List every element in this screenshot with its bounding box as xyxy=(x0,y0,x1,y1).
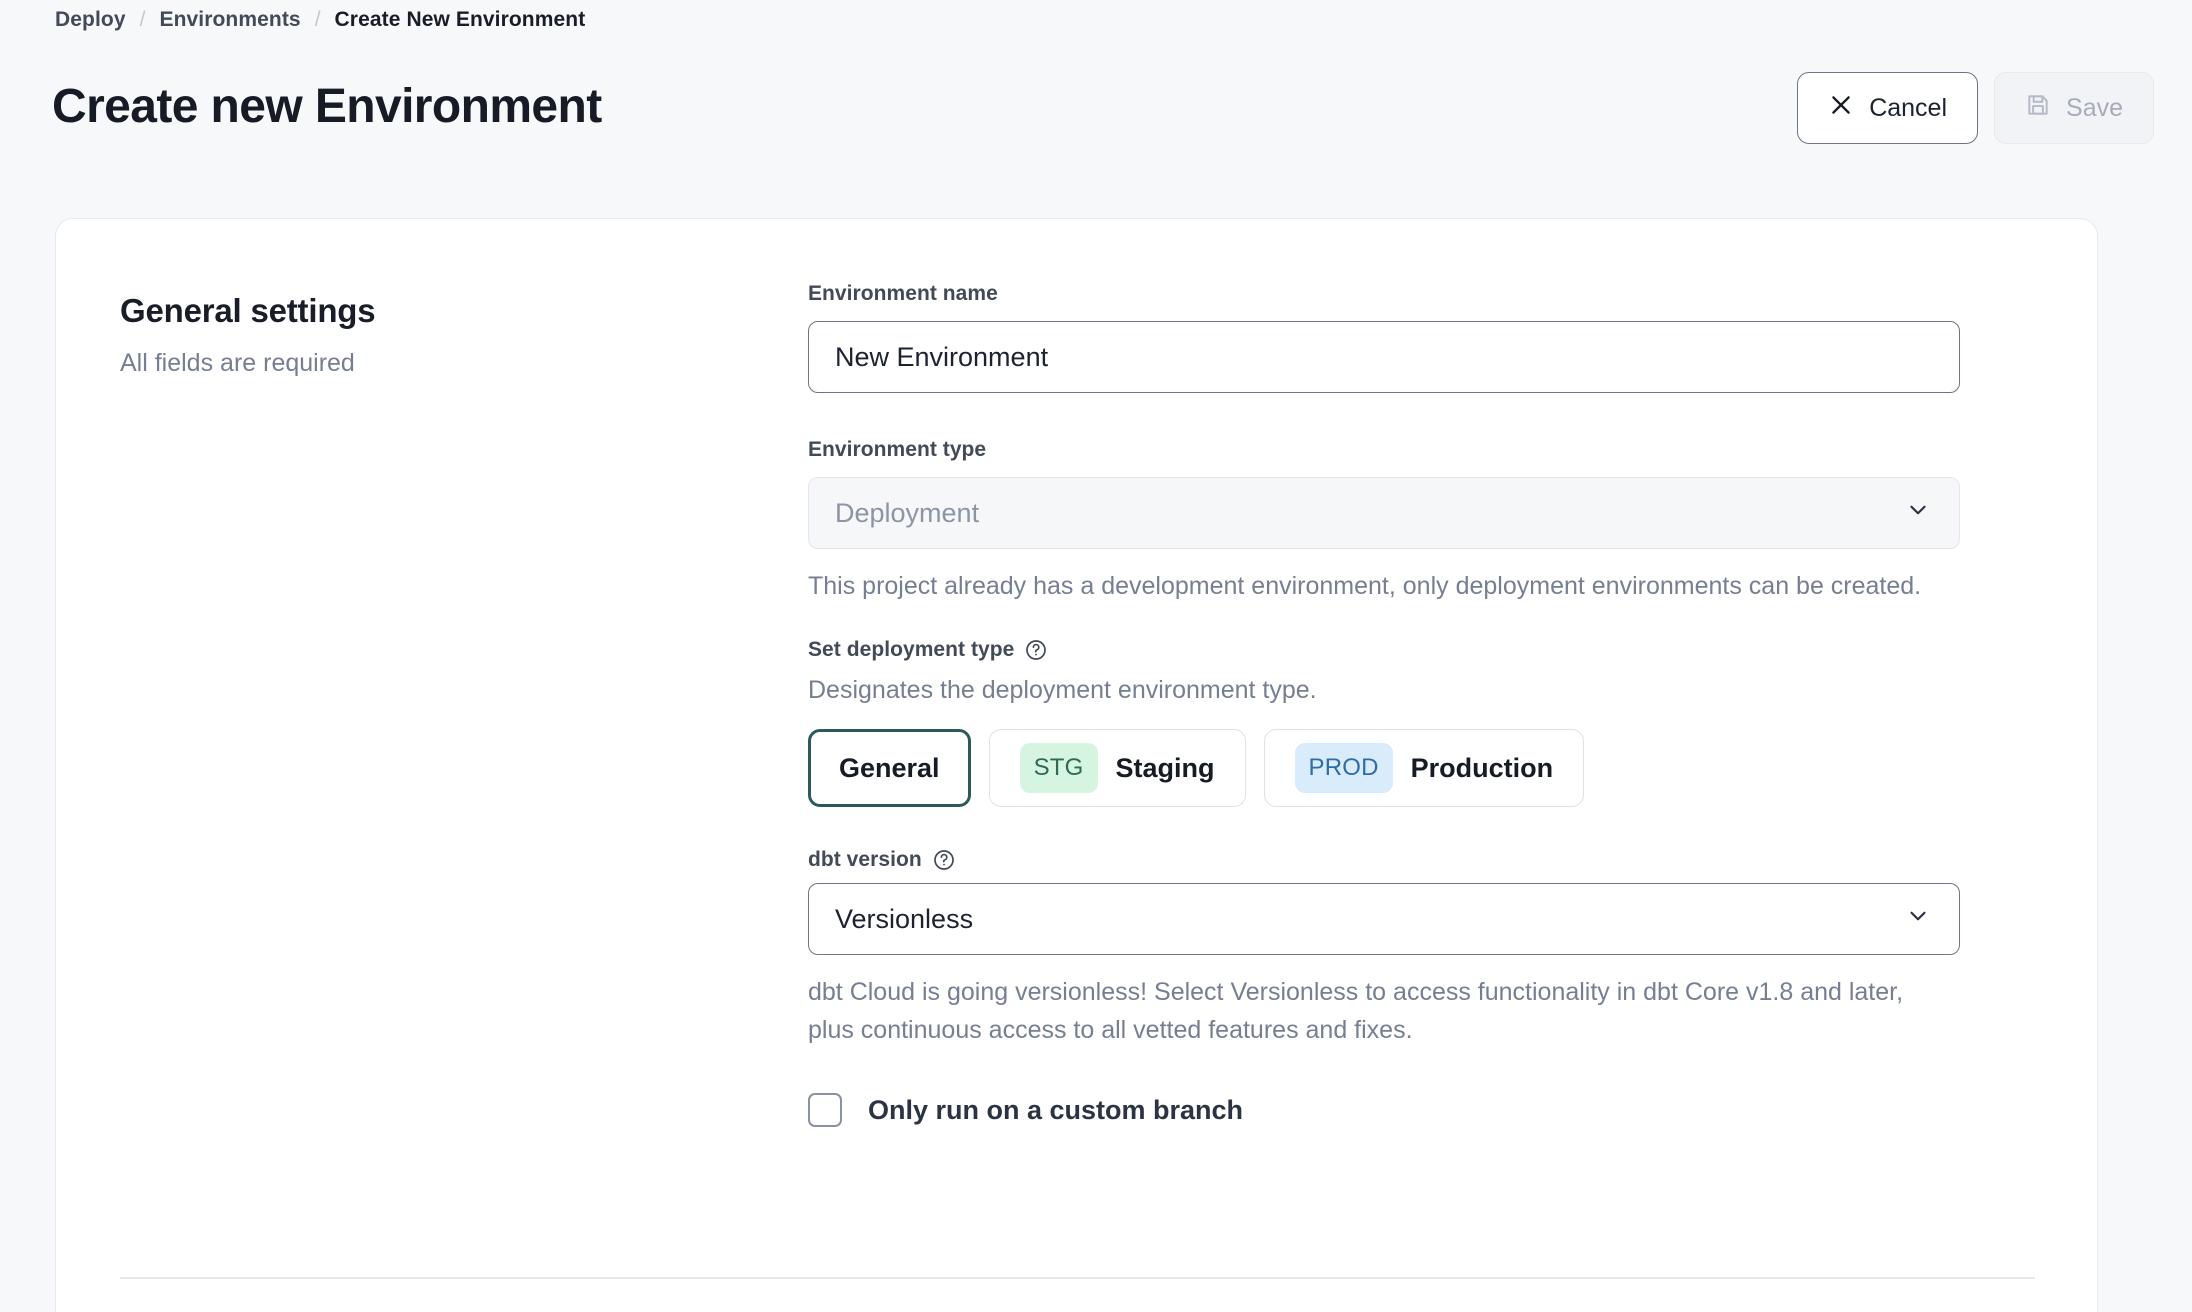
deployment-type-options: General STG Staging PROD Production xyxy=(808,729,1960,807)
breadcrumb-separator: / xyxy=(140,6,146,34)
breadcrumb-item-create-new-environment: Create New Environment xyxy=(335,6,586,34)
dbt-version-label-row: dbt version xyxy=(808,847,1960,873)
page-title: Create new Environment xyxy=(52,78,602,136)
form-column: Environment name New Environment Environ… xyxy=(808,281,1960,1127)
header-actions: Cancel Save xyxy=(1797,72,2154,144)
floppy-disk-icon xyxy=(2025,92,2051,125)
dbt-version-field: dbt version Versionless xyxy=(808,847,1960,1049)
section-header: General settings All fields are required xyxy=(120,291,680,379)
card-divider xyxy=(120,1277,2035,1279)
chevron-down-icon xyxy=(1905,903,1931,936)
general-settings-card: General settings All fields are required… xyxy=(55,218,2098,1312)
environment-type-select[interactable]: Deployment xyxy=(808,477,1960,549)
save-button-label: Save xyxy=(2066,96,2123,121)
create-environment-page: Deploy / Environments / Create New Envir… xyxy=(0,0,2192,1312)
breadcrumb: Deploy / Environments / Create New Envir… xyxy=(55,6,585,34)
custom-branch-checkbox[interactable] xyxy=(808,1093,842,1127)
dbt-version-label: dbt version xyxy=(808,847,922,873)
dbt-version-value: Versionless xyxy=(835,906,1933,933)
environment-name-input[interactable]: New Environment xyxy=(808,321,1960,393)
custom-branch-row: Only run on a custom branch xyxy=(808,1093,1960,1127)
close-icon xyxy=(1828,92,1854,125)
environment-name-label: Environment name xyxy=(808,281,1960,307)
cancel-button[interactable]: Cancel xyxy=(1797,72,1978,144)
breadcrumb-item-deploy[interactable]: Deploy xyxy=(55,6,126,34)
custom-branch-label[interactable]: Only run on a custom branch xyxy=(868,1097,1243,1124)
production-badge: PROD xyxy=(1295,743,1393,793)
deployment-type-option-staging[interactable]: STG Staging xyxy=(989,729,1246,807)
deployment-type-option-production[interactable]: PROD Production xyxy=(1264,729,1585,807)
deployment-type-field: Set deployment type Designates the deplo… xyxy=(808,637,1960,807)
deployment-type-label: Set deployment type xyxy=(808,637,1014,663)
environment-type-field: Environment type Deployment This project… xyxy=(808,437,1960,605)
environment-type-value: Deployment xyxy=(835,500,1933,527)
question-circle-icon[interactable] xyxy=(932,848,956,872)
section-subtitle: All fields are required xyxy=(120,347,680,379)
staging-badge: STG xyxy=(1020,743,1098,793)
deployment-type-option-general[interactable]: General xyxy=(808,729,971,807)
deployment-type-option-staging-label: Staging xyxy=(1116,753,1215,784)
deployment-type-option-general-label: General xyxy=(839,753,940,784)
deployment-type-option-production-label: Production xyxy=(1411,753,1554,784)
environment-name-value: New Environment xyxy=(835,344,1933,371)
deployment-type-description: Designates the deployment environment ty… xyxy=(808,673,1960,707)
environment-type-helper: This project already has a development e… xyxy=(808,567,1928,605)
breadcrumb-separator: / xyxy=(315,6,321,34)
section-title: General settings xyxy=(120,291,680,331)
environment-type-label: Environment type xyxy=(808,437,1960,463)
cancel-button-label: Cancel xyxy=(1869,96,1947,121)
dbt-version-select[interactable]: Versionless xyxy=(808,883,1960,955)
deployment-type-label-row: Set deployment type xyxy=(808,637,1960,663)
dbt-version-helper: dbt Cloud is going versionless! Select V… xyxy=(808,973,1928,1049)
environment-name-field: Environment name New Environment xyxy=(808,281,1960,393)
breadcrumb-item-environments[interactable]: Environments xyxy=(159,6,300,34)
chevron-down-icon xyxy=(1905,497,1931,530)
save-button[interactable]: Save xyxy=(1994,72,2154,144)
question-circle-icon[interactable] xyxy=(1024,638,1048,662)
